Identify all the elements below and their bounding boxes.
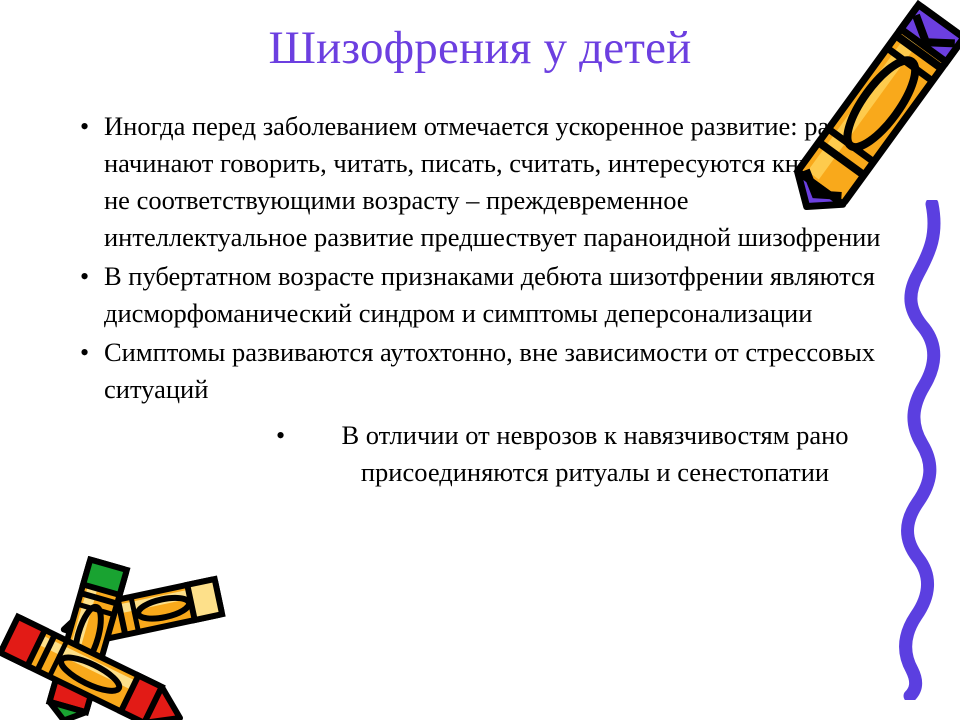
- bullet-icon: •: [72, 334, 104, 371]
- list-item: • Симптомы развиваются аутохтонно, вне з…: [72, 334, 892, 408]
- presentation-slide: Шизофрения у детей • Иногда перед заболе…: [0, 0, 960, 720]
- bullet-list: • Иногда перед заболеванием отмечается у…: [72, 108, 892, 493]
- list-item-text: Иногда перед заболеванием отмечается уск…: [104, 108, 892, 256]
- list-item: • Иногда перед заболеванием отмечается у…: [72, 108, 892, 256]
- list-item-text: В отличии от неврозов к навязчивостям ра…: [298, 417, 892, 491]
- squiggle-line-icon: [880, 200, 960, 700]
- list-item-sub: • В отличии от неврозов к навязчивостям …: [72, 417, 892, 491]
- bullet-icon: •: [268, 417, 298, 454]
- list-item-text: В пубертатном возрасте признаками дебюта…: [104, 258, 892, 332]
- page-title: Шизофрения у детей: [0, 24, 960, 73]
- bullet-icon: •: [72, 108, 104, 145]
- bullet-icon: •: [72, 258, 104, 295]
- crayons-icon: [0, 556, 232, 720]
- list-item-text: Симптомы развиваются аутохтонно, вне зав…: [104, 334, 892, 408]
- list-item: • В пубертатном возрасте признаками дебю…: [72, 258, 892, 332]
